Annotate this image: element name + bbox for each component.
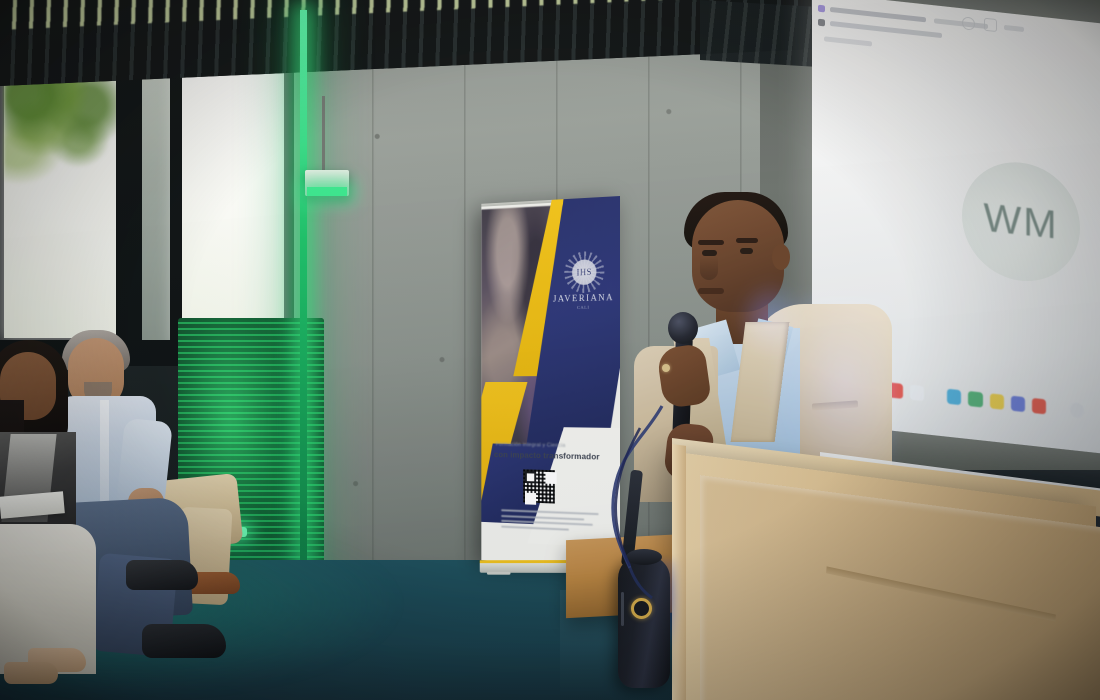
speaker-eye-right: [740, 248, 753, 254]
wall-conduit: [322, 96, 325, 172]
teams-icon[interactable]: [1011, 395, 1025, 412]
foliage: [4, 72, 124, 192]
audience-man-black-shoe: [126, 560, 198, 590]
speaker-brow-left: [698, 240, 724, 245]
account-icon[interactable]: [962, 16, 975, 30]
wall-mounted-light-box: [305, 170, 349, 196]
siri-icon[interactable]: [1070, 402, 1084, 419]
chrome-icon[interactable]: [1032, 397, 1046, 414]
browser-icon[interactable]: [968, 390, 982, 407]
microphone-head[interactable]: [668, 312, 698, 344]
speaker-brow-right: [736, 238, 758, 243]
fineprint-line: [501, 525, 569, 530]
bookmark-label: [830, 21, 942, 38]
speaker-nose: [700, 256, 718, 280]
qr-code-icon[interactable]: [523, 469, 555, 503]
fineprint-line: [501, 515, 584, 520]
speaker-mouth: [698, 288, 724, 294]
banner-institution-name: JAVERIANA: [549, 292, 618, 304]
mullion-b: [170, 44, 182, 364]
speaker-ear: [772, 244, 790, 270]
notes2-icon[interactable]: [990, 393, 1004, 410]
banner-foot-left: [487, 572, 511, 575]
settings-icon[interactable]: [984, 18, 997, 32]
bookmark-favicon: [818, 19, 825, 27]
screen-watermark: WM: [962, 156, 1080, 287]
audience-woman-shoe-2: [4, 662, 58, 684]
browser-toolbar[interactable]: [818, 5, 1028, 74]
window-wall: [0, 44, 292, 364]
browser-tab-favicon: [818, 5, 825, 13]
blue-light-spill-shoulder: [736, 280, 806, 360]
javeriana-seal-icon: IHS: [568, 255, 601, 290]
seal-monogram: IHS: [577, 267, 592, 277]
mullion-a: [116, 44, 142, 364]
audience-man-shirt-placket: [100, 400, 109, 512]
dock-separator-2: [1053, 407, 1062, 408]
speaker-ring: [662, 364, 670, 372]
window-pane-left: [4, 62, 116, 338]
address-bar-text[interactable]: [824, 36, 872, 46]
window-pane-right: [180, 56, 284, 342]
banner-fineprint: [501, 509, 598, 535]
files-icon[interactable]: [910, 384, 924, 401]
fineprint-line: [501, 520, 592, 526]
green-led-strip: [300, 10, 307, 580]
watermark-text: WM: [983, 195, 1058, 248]
conference-photo-scene: WM IHS JAVERIANA CALI For: [0, 0, 1100, 700]
edge-icon[interactable]: [947, 388, 961, 405]
audience-man-black-shoe-2: [142, 624, 226, 658]
window-mullion-column: [140, 58, 172, 340]
toolbar-label: [1004, 25, 1024, 32]
podium-cable: [612, 424, 732, 624]
browser-tab-title: [830, 7, 926, 22]
browser-tab-title-2: [934, 18, 988, 29]
dock-separator: [931, 394, 940, 395]
